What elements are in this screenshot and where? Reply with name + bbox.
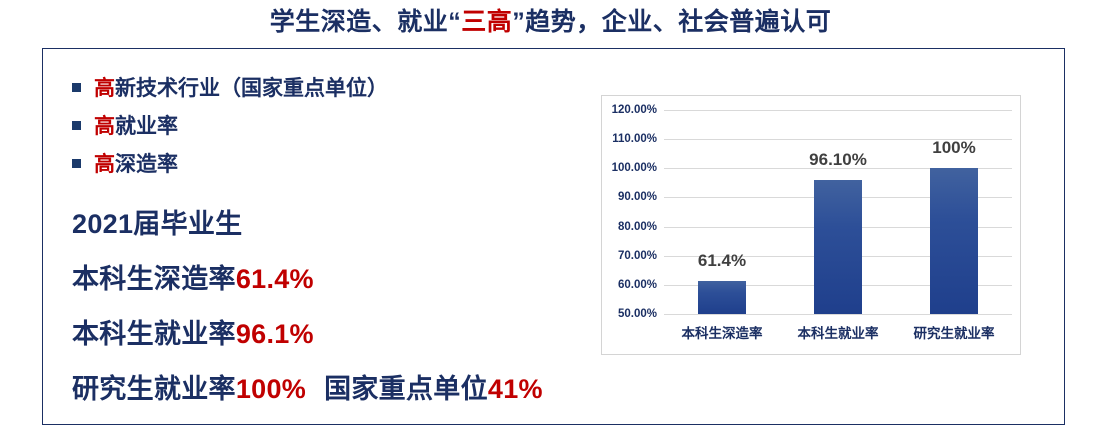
x-axis-tick-label: 本科生就业率 [798, 322, 879, 342]
bullet-text: 高就业率 [94, 110, 178, 140]
bullet-rest: 新技术行业（国家重点单位） [115, 77, 388, 100]
bullet-text: 高新技术行业（国家重点单位） [94, 72, 388, 102]
title-part-before: 学生深造、就业 [270, 8, 449, 36]
y-axis-tick-label: 80.00% [618, 221, 657, 233]
title-highlight: 三高 [461, 8, 512, 36]
page-title: 学生深造、就业“三高”趋势，企业、社会普遍认可 [0, 2, 1101, 38]
stat-postgrad-and-key-units: 研究生就业率100%国家重点单位41% [72, 367, 592, 406]
title-quote-open: “ [448, 8, 461, 36]
y-axis-tick-label: 60.00% [618, 279, 657, 291]
title-part-after: 趋势，企业、社会普遍认可 [525, 8, 831, 36]
stat-value-postgrad: 100% [236, 374, 306, 404]
title-quote-close: ” [512, 8, 525, 36]
chart-bar [814, 180, 862, 314]
bullet-highlight: 高 [94, 115, 115, 138]
stat-label: 本科生深造率 [72, 264, 236, 294]
stat-undergrad-employment: 本科生就业率96.1% [72, 312, 592, 351]
chart-data-label: 96.10% [809, 150, 867, 170]
bullet-highlight: 高 [94, 77, 115, 100]
stat-graduates-label: 2021届毕业生 [72, 209, 242, 239]
y-axis-tick-label: 90.00% [618, 191, 657, 203]
x-axis-tick-label: 本科生深造率 [682, 322, 763, 342]
chart-gridline: 120.00% [664, 110, 1012, 111]
y-axis-tick-label: 110.00% [612, 133, 657, 145]
left-column: 高新技术行业（国家重点单位） 高就业率 高深造率 2021届毕业生 本科生深造率… [72, 68, 592, 406]
stat-label-postgrad: 研究生就业率 [72, 374, 236, 404]
bullet-highlight: 高 [94, 153, 115, 176]
stat-label: 本科生就业率 [72, 319, 236, 349]
y-axis-tick-label: 50.00% [618, 308, 657, 320]
stat-value-key-units: 41% [488, 374, 543, 404]
bullet-rest: 深造率 [115, 153, 178, 176]
stat-value: 96.1% [236, 319, 314, 349]
stat-graduates: 2021届毕业生 [72, 202, 592, 241]
chart-bar [930, 168, 978, 314]
list-item: 高深造率 [72, 144, 592, 182]
square-bullet-icon [72, 83, 81, 92]
chart-data-label: 100% [932, 138, 975, 158]
list-item: 高就业率 [72, 106, 592, 144]
list-item: 高新技术行业（国家重点单位） [72, 68, 592, 106]
stat-undergrad-further-study: 本科生深造率61.4% [72, 257, 592, 296]
stat-value: 61.4% [236, 264, 314, 294]
chart-bar [698, 281, 746, 314]
y-axis-tick-label: 100.00% [612, 162, 657, 174]
square-bullet-icon [72, 159, 81, 168]
y-axis-tick-label: 120.00% [612, 104, 657, 116]
bullet-text: 高深造率 [94, 148, 178, 178]
square-bullet-icon [72, 121, 81, 130]
chart-data-label: 61.4% [698, 251, 746, 271]
x-axis-tick-label: 研究生就业率 [914, 322, 995, 342]
chart-plot-area: 120.00%110.00%100.00%90.00%80.00%70.00%6… [664, 110, 1012, 314]
stat-label-key-units: 国家重点单位 [324, 374, 488, 404]
y-axis-tick-label: 70.00% [618, 250, 657, 262]
employment-bar-chart: 120.00%110.00%100.00%90.00%80.00%70.00%6… [601, 95, 1021, 355]
bullet-rest: 就业率 [115, 115, 178, 138]
chart-gridline: 50.00% [664, 314, 1012, 315]
